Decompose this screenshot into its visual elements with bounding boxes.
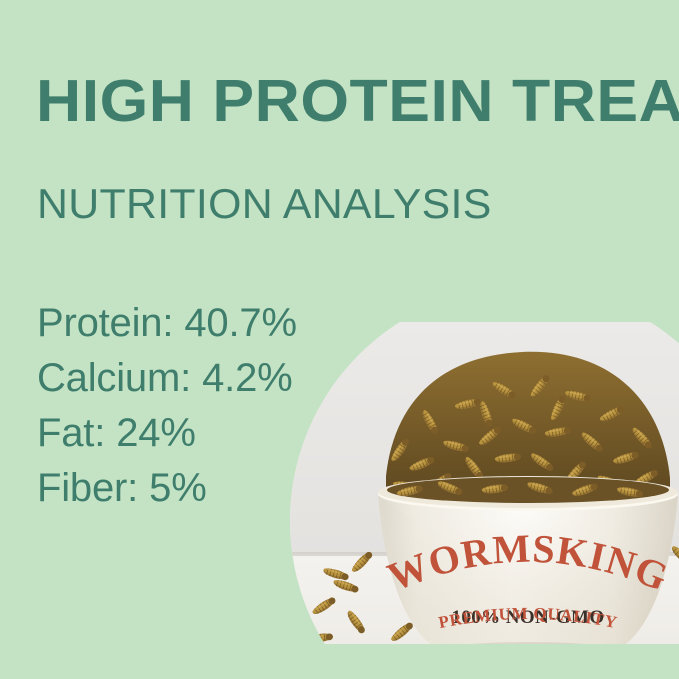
product-photo: WORMSKING 100% NON-GMO PREMIUM QUALITY [290, 322, 679, 644]
list-item: Protein: 40.7% [37, 296, 297, 351]
nutrition-infographic: HIGH PROTEIN TREATS NUTRITION ANALYSIS P… [0, 0, 679, 679]
product-photo-circle-crop: WORMSKING 100% NON-GMO PREMIUM QUALITY [290, 322, 679, 644]
list-item: Fat: 24% [37, 406, 297, 461]
nutrient-value: 5% [149, 466, 206, 510]
nutrient-value: 40.7% [184, 301, 296, 345]
nutrient-label: Calcium: [37, 356, 191, 400]
list-item: Calcium: 4.2% [37, 351, 297, 406]
nutrient-value: 4.2% [202, 356, 292, 400]
nutrient-value: 24% [116, 411, 195, 455]
nutrient-label: Fat: [37, 411, 105, 455]
nutrient-label: Fiber: [37, 466, 138, 510]
page-subtitle: NUTRITION ANALYSIS [37, 181, 492, 227]
bowl-of-mealworms-image: WORMSKING 100% NON-GMO PREMIUM QUALITY [290, 322, 679, 644]
page-title: HIGH PROTEIN TREATS [36, 70, 679, 132]
list-item: Fiber: 5% [37, 461, 297, 516]
nutrient-label: Protein: [37, 301, 173, 345]
nutrition-analysis-list: Protein: 40.7% Calcium: 4.2% Fat: 24% Fi… [37, 296, 297, 516]
